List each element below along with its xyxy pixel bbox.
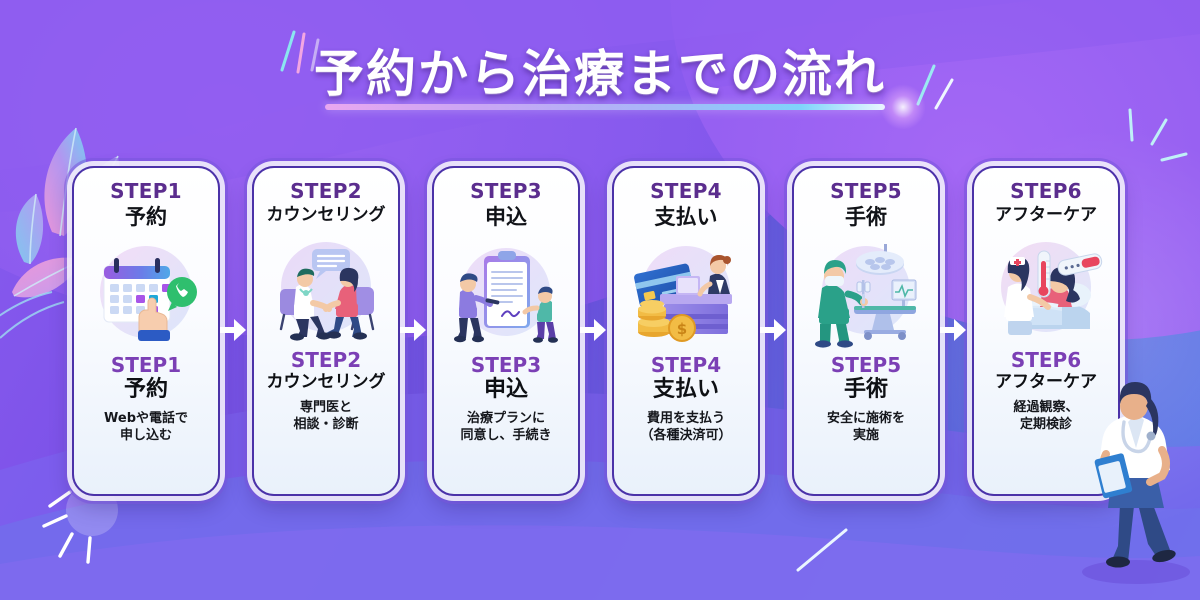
step-description-1: Webや電話で 申し込む xyxy=(104,410,188,445)
contract-signing-icon xyxy=(446,236,566,348)
step-card-5[interactable]: STEP5 手術 xyxy=(792,166,940,496)
step-label-bottom-2: STEP2 xyxy=(291,349,361,372)
step-title-top-5: 手術 xyxy=(845,205,887,230)
title-underline xyxy=(325,104,885,110)
step-title-top-6: アフターケア xyxy=(995,205,1097,225)
step-title-bottom-3: 申込 xyxy=(484,377,528,403)
payment-counter-icon: $ xyxy=(626,236,746,348)
calendar-phone-icon xyxy=(86,236,206,348)
arrow-right-icon-1 xyxy=(220,316,246,344)
surgery-operating-room-icon xyxy=(806,236,926,348)
step-card-4[interactable]: STEP4 支払い xyxy=(612,166,760,496)
arrow-right-icon-4 xyxy=(760,316,786,344)
steps-row: STEP1 予約 xyxy=(72,166,1120,496)
step-description-5: 安全に施術を 実施 xyxy=(827,410,905,445)
infographic-canvas: 予約から治療までの流れ STEP1 予約 xyxy=(0,0,1200,600)
step-card-3[interactable]: STEP3 申込 xyxy=(432,166,580,496)
step-description-4: 費用を支払う （各種決済可） xyxy=(640,410,731,445)
step-title-bottom-5: 手術 xyxy=(844,377,888,403)
step-label-top-4: STEP4 xyxy=(650,180,722,203)
step-title-top-2: カウンセリング xyxy=(267,205,386,225)
step-label-top-1: STEP1 xyxy=(110,180,182,203)
doctor-patient-consultation-icon xyxy=(266,231,386,343)
step-label-top-2: STEP2 xyxy=(290,180,362,203)
step-label-bottom-1: STEP1 xyxy=(111,354,181,377)
title-underline-glow xyxy=(880,84,926,130)
svg-text:$: $ xyxy=(677,320,687,338)
step-label-bottom-4: STEP4 xyxy=(651,354,721,377)
step-label-top-3: STEP3 xyxy=(470,180,542,203)
step-label-bottom-5: STEP5 xyxy=(831,354,901,377)
step-card-1[interactable]: STEP1 予約 xyxy=(72,166,220,496)
step-title-top-1: 予約 xyxy=(125,205,167,230)
step-label-bottom-6: STEP6 xyxy=(1011,349,1081,372)
step-title-bottom-1: 予約 xyxy=(124,377,168,403)
step-label-bottom-3: STEP3 xyxy=(471,354,541,377)
arrow-right-icon-5 xyxy=(940,316,966,344)
step-title-bottom-4: 支払い xyxy=(653,377,719,403)
step-label-top-5: STEP5 xyxy=(830,180,902,203)
doctor-illustration xyxy=(1076,376,1196,586)
step-title-top-3: 申込 xyxy=(485,205,527,230)
arrow-right-icon-2 xyxy=(400,316,426,344)
step-description-2: 専門医と 相談・診断 xyxy=(293,399,358,434)
step-description-6: 経過観察、 定期検診 xyxy=(1013,399,1078,434)
sparkle-bottom-right-icon xyxy=(790,520,860,580)
step-description-3: 治療プランに 同意し、手続き xyxy=(460,410,551,445)
nurse-bedside-care-icon xyxy=(986,231,1106,343)
page-title-wrap: 予約から治療までの流れ xyxy=(0,34,1200,106)
step-label-top-6: STEP6 xyxy=(1010,180,1082,203)
step-title-bottom-2: カウンセリング xyxy=(267,372,386,392)
arrow-right-icon-3 xyxy=(580,316,606,344)
page-title: 予約から治療までの流れ xyxy=(314,34,886,106)
step-title-top-4: 支払い xyxy=(655,205,718,230)
step-card-2[interactable]: STEP2 カウンセリング xyxy=(252,166,400,496)
